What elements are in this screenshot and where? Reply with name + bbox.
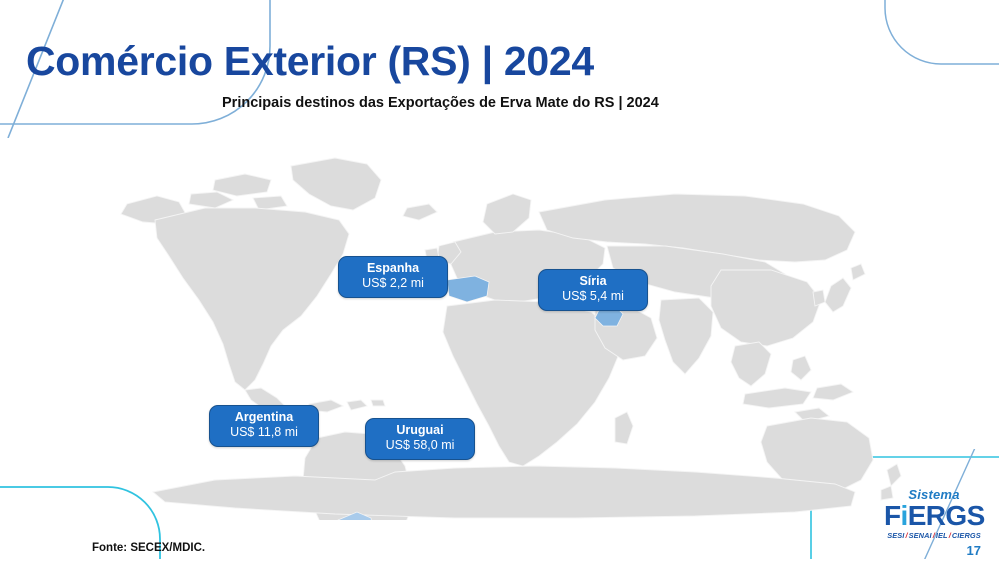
logo-fiergs-i: i [901, 500, 908, 531]
logo-fiergs-text: FiERGS [884, 502, 984, 530]
decoration-top-right [779, 0, 999, 93]
callout-siria[interactable]: Síria US$ 5,4 mi [538, 269, 648, 311]
callout-uruguai-value: US$ 58,0 mi [376, 438, 464, 453]
callout-uruguai[interactable]: Uruguai US$ 58,0 mi [365, 418, 475, 460]
source-note: Fonte: SECEX/MDIC. [92, 542, 205, 554]
logo-fiergs-f: F [884, 500, 901, 531]
slide-canvas: Comércio Exterior (RS) | 2024 Principais… [0, 0, 999, 562]
page-subtitle: Principais destinos das Exportações de E… [222, 95, 659, 111]
callout-espanha-country: Espanha [349, 261, 437, 276]
logo-brands-line: SESI/SENAI/IEL/CIERGS [884, 532, 984, 539]
logo-brand-ciergs: CIERGS [952, 531, 981, 540]
page-title: Comércio Exterior (RS) | 2024 [26, 38, 594, 85]
callout-espanha[interactable]: Espanha US$ 2,2 mi [338, 256, 448, 298]
logo-fiergs-ergs: ERGS [908, 500, 985, 531]
logo-brand-senai: SENAI [909, 531, 932, 540]
callout-uruguai-country: Uruguai [376, 423, 464, 438]
map-land-base [121, 158, 901, 520]
callout-siria-value: US$ 5,4 mi [549, 289, 637, 304]
callout-argentina-value: US$ 11,8 mi [220, 425, 308, 440]
callout-argentina-country: Argentina [220, 410, 308, 425]
fiergs-logo: Sistema FiERGS SESI/SENAI/IEL/CIERGS [884, 488, 984, 539]
logo-brand-iel: IEL [936, 531, 948, 540]
world-map [95, 150, 905, 520]
logo-brand-sesi: SESI [887, 531, 904, 540]
callout-argentina[interactable]: Argentina US$ 11,8 mi [209, 405, 319, 447]
callout-espanha-value: US$ 2,2 mi [349, 276, 437, 291]
page-number: 17 [967, 543, 981, 558]
callout-siria-country: Síria [549, 274, 637, 289]
map-country-espanha [447, 276, 489, 302]
